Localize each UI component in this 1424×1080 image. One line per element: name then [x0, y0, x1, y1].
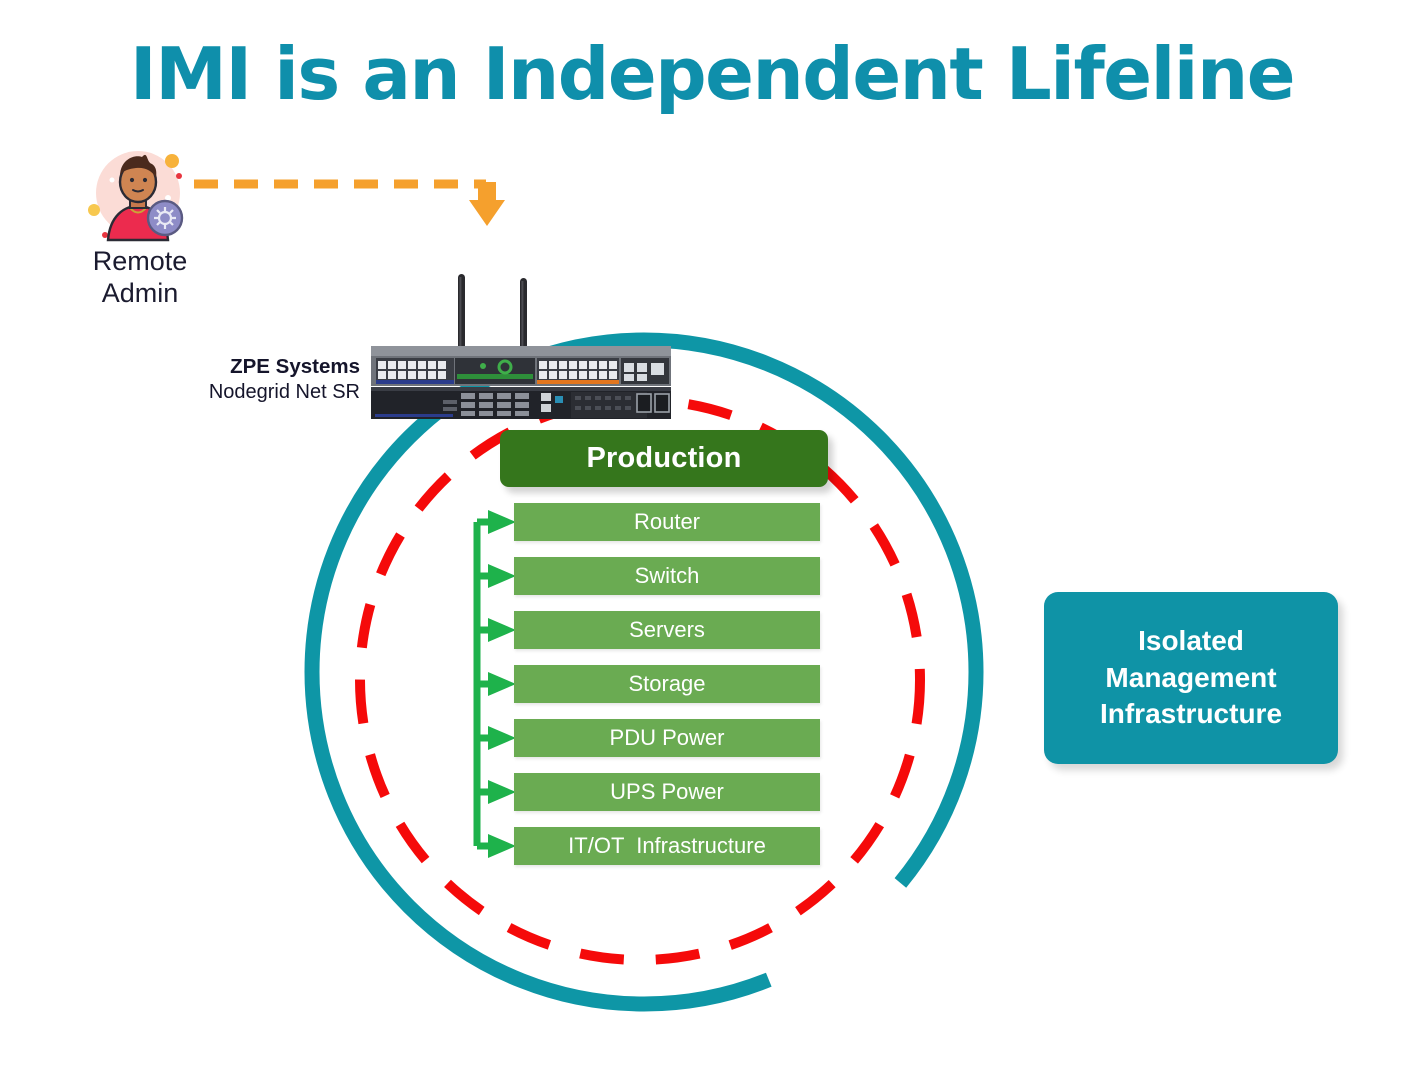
device-brand: ZPE Systems: [95, 354, 360, 380]
remote-admin-label: Remote Admin: [40, 246, 240, 310]
avatar-eye-left-icon: [130, 178, 134, 182]
avatar-dot-red-icon: [176, 173, 182, 179]
remote-admin-avatar: [86, 140, 192, 246]
device-label: ZPE Systems Nodegrid Net SR: [95, 354, 360, 406]
diagram-canvas: IMI is an Independent Lifeline: [0, 0, 1424, 1080]
production-row-label: Router: [634, 509, 700, 535]
production-row-storage[interactable]: Storage: [514, 665, 820, 703]
imi-line2: Management: [1105, 660, 1276, 697]
production-header[interactable]: Production: [500, 430, 828, 487]
production-row-router[interactable]: Router: [514, 503, 820, 541]
production-row-label: Storage: [628, 671, 705, 697]
dashed-arrow-icon: [190, 168, 510, 238]
avatar-dot-white2-icon: [110, 178, 115, 183]
production-row-ups-power[interactable]: UPS Power: [514, 773, 820, 811]
gear-badge-icon: [148, 201, 182, 235]
production-row-label: Servers: [629, 617, 705, 643]
production-header-label: Production: [586, 442, 741, 475]
imi-line1: Isolated: [1138, 623, 1244, 660]
remote-admin-label-line2: Admin: [40, 278, 240, 310]
avatar-dot-yellow-icon: [88, 204, 100, 216]
avatar-eye-right-icon: [143, 178, 147, 182]
device-model: Nodegrid Net SR: [95, 380, 360, 406]
production-row-label: Switch: [635, 563, 700, 589]
remote-admin-label-line1: Remote: [40, 246, 240, 278]
production-row-pdu-power[interactable]: PDU Power: [514, 719, 820, 757]
production-row-label: IT/OT Infrastructure: [568, 833, 766, 859]
production-row-label: PDU Power: [610, 725, 725, 751]
avatar-dot-orange-icon: [165, 154, 179, 168]
production-row-label: UPS Power: [610, 779, 724, 805]
production-row-it-ot-infrastructure[interactable]: IT/OT Infrastructure: [514, 827, 820, 865]
production-row-servers[interactable]: Servers: [514, 611, 820, 649]
isolated-management-infrastructure-card[interactable]: Isolated Management Infrastructure: [1044, 592, 1338, 764]
imi-line3: Infrastructure: [1100, 696, 1282, 733]
production-row-switch[interactable]: Switch: [514, 557, 820, 595]
nodegrid-net-sr-appliance-icon: [365, 266, 677, 422]
